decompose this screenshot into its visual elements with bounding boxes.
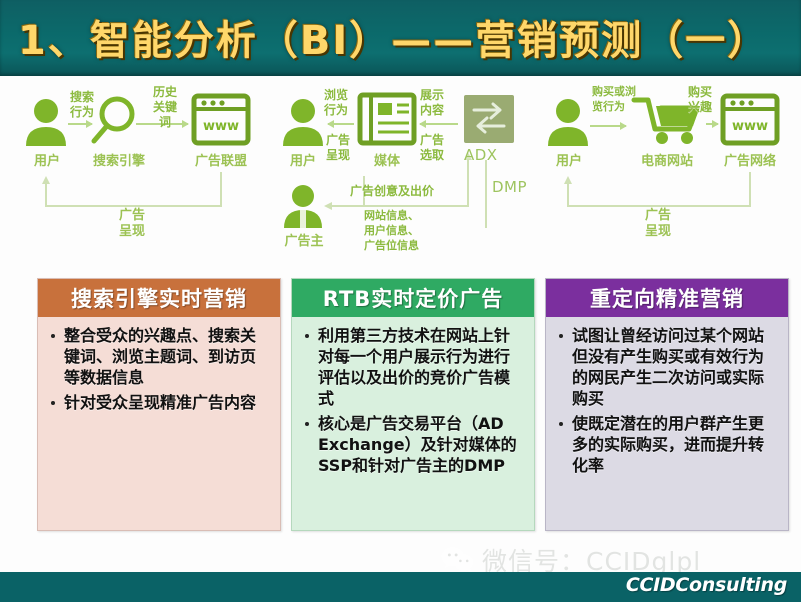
browser-www-icon: www — [194, 96, 248, 143]
node-label-dmp: DMP — [492, 178, 527, 196]
label-history-keyword-3: 词 — [159, 113, 171, 130]
svg-text:www: www — [203, 119, 239, 134]
diagram-group-rtb: 浏览 行为 广告 呈现 展示 内容 广告 选取 用户 媒体 ADX DMP 广告… — [268, 78, 536, 273]
bullet-list: 整合受众的兴趣点、搜索关键词、浏览主题词、到访页等数据信息 针对受众呈现精准广告… — [48, 325, 270, 413]
node-label-ecommerce-site: 电商网站 — [627, 150, 707, 169]
card-body: 整合受众的兴趣点、搜索关键词、浏览主题词、到访页等数据信息 针对受众呈现精准广告… — [38, 317, 280, 423]
slide-header: 1、智能分析（BI）——营销预测（一） — [0, 0, 801, 76]
card-body: 试图让曾经访问过某个网站但没有产生购买或有效行为的网民产生二次访问或实际购买 使… — [546, 317, 788, 486]
label-browse-behavior-2: 行为 — [324, 101, 348, 118]
label-creative-and-bid: 广告创意及出价 — [350, 182, 434, 199]
page-title: 1、智能分析（BI）——营销预测（一） — [18, 8, 788, 66]
svg-text:www: www — [732, 119, 768, 134]
label-site-info: 网站信息、 — [364, 210, 419, 222]
label-display-content-2: 内容 — [420, 101, 444, 118]
footer-brand: CCIDConsulting — [626, 574, 787, 596]
media-news-icon — [360, 95, 414, 143]
browser-www-icon: www — [723, 96, 777, 143]
label-ad-fetch-2: 选取 — [420, 146, 444, 163]
list-item: 利用第三方技术在网站上针对每一个用户展示行为进行评估以及出价的竞价广告模式 — [302, 325, 524, 409]
card-rtb-realtime-pricing-ads: RTB实时定价广告 利用第三方技术在网站上针对每一个用户展示行为进行评估以及出价… — [291, 278, 535, 531]
card-search-engine-realtime-marketing: 搜索引擎实时营销 整合受众的兴趣点、搜索关键词、浏览主题词、到访页等数据信息 针… — [37, 278, 281, 531]
user-icon — [26, 99, 66, 146]
user-icon — [548, 99, 588, 146]
card-title: RTB实时定价广告 — [292, 279, 534, 317]
advertiser-icon — [284, 185, 322, 228]
diagram-group-retargeting: www 购买或浏 览行为 购买 兴趣 用户 电商网 — [530, 78, 798, 273]
list-item: 针对受众呈现精准广告内容 — [48, 392, 270, 413]
node-label-advertiser: 广告主 — [276, 230, 332, 249]
user-icon — [283, 99, 323, 146]
list-item: 试图让曾经访问过某个网站但没有产生购买或有效行为的网民产生二次访问或实际购买 — [556, 325, 778, 409]
bullet-list: 利用第三方技术在网站上针对每一个用户展示行为进行评估以及出价的竞价广告模式 核心… — [302, 325, 524, 476]
node-label-media: 媒体 — [364, 150, 410, 169]
label-purchase-browse-2: 览行为 — [592, 101, 625, 113]
diagram-group-search-engine: www 搜索 行为 历史 关键 词 用户 — [8, 78, 270, 273]
node-label-adx: ADX — [464, 146, 498, 164]
wechat-icon — [440, 545, 474, 575]
node-label-user: 用户 — [24, 150, 70, 169]
bullet-list: 试图让曾经访问过某个网站但没有产生购买或有效行为的网民产生二次访问或实际购买 使… — [556, 325, 778, 476]
card-title: 重定向精准营销 — [546, 279, 788, 317]
label-purchase-interest-2: 兴趣 — [688, 98, 712, 115]
label-ad-show-2: 呈现 — [326, 146, 350, 163]
label-ad-display-2: 呈现 — [634, 220, 682, 239]
group3-graphics: www — [530, 78, 798, 273]
group1-graphics: www — [8, 78, 270, 273]
card-body: 利用第三方技术在网站上针对每一个用户展示行为进行评估以及出价的竞价广告模式 核心… — [292, 317, 534, 486]
list-item: 使既定潜在的用户群产生更多的实际购买，进而提升转化率 — [556, 413, 778, 476]
node-label-ad-alliance: 广告联盟 — [186, 150, 256, 169]
label-search-behavior-2: 行为 — [70, 103, 94, 120]
label-user-info: 用户信息、 — [364, 225, 419, 237]
list-item: 核心是广告交易平台（AD Exchange）及针对媒体的SSP和针对广告主的DM… — [302, 413, 524, 476]
label-ad-display-2: 呈现 — [108, 220, 156, 239]
slide-canvas: 1、智能分析（BI）——营销预测（一） — [0, 0, 801, 602]
node-label-search-engine: 搜索引擎 — [84, 150, 154, 169]
node-label-user: 用户 — [281, 150, 325, 169]
node-label-user: 用户 — [546, 150, 592, 169]
card-retargeting-precision-marketing: 重定向精准营销 试图让曾经访问过某个网站但没有产生购买或有效行为的网民产生二次访… — [545, 278, 789, 531]
diagram-area: www 搜索 行为 历史 关键 词 用户 — [0, 78, 801, 273]
cards-area: 搜索引擎实时营销 整合受众的兴趣点、搜索关键词、浏览主题词、到访页等数据信息 针… — [0, 278, 801, 536]
node-label-ad-network: 广告网络 — [712, 150, 788, 169]
exchange-box-icon — [464, 95, 514, 143]
magnifier-icon — [94, 99, 132, 141]
card-title: 搜索引擎实时营销 — [38, 279, 280, 317]
label-purchase-browse-1: 购买或浏 — [592, 86, 636, 98]
label-ad-slot-info: 广告位信息 — [364, 240, 419, 252]
list-item: 整合受众的兴趣点、搜索关键词、浏览主题词、到访页等数据信息 — [48, 325, 270, 388]
